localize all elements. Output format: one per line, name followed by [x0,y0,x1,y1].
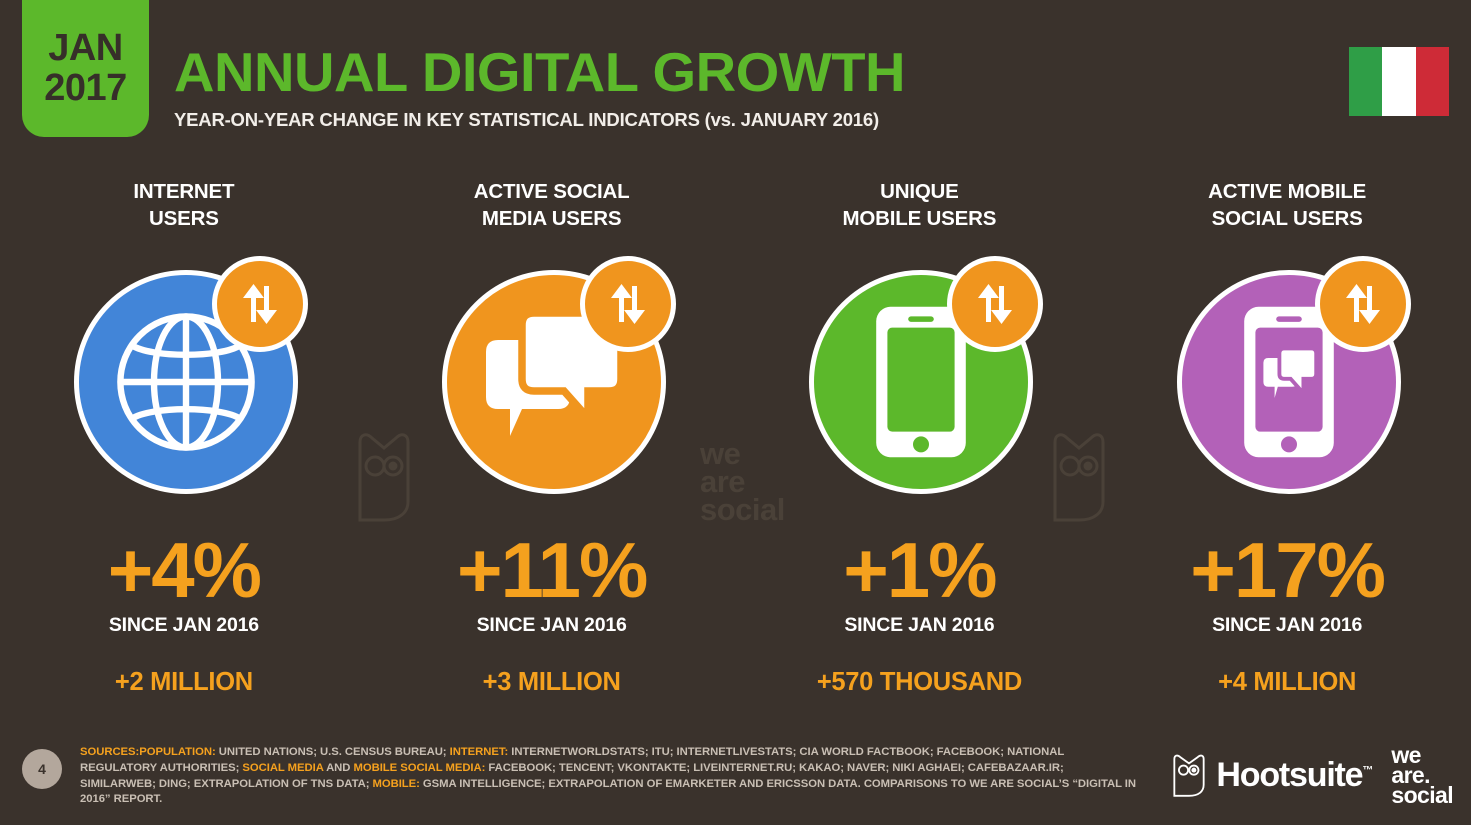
hootsuite-wordmark: Hootsuite™ [1216,756,1373,795]
date-month: JAN [48,29,123,67]
flag-stripe-green [1349,47,1382,116]
sources-body-and: AND [323,762,353,774]
growth-arrows-badge [1315,256,1411,352]
flag-stripe-white [1382,47,1415,116]
page-number-badge: 4 [22,749,62,789]
sources-key-internet: INTERNET: [450,746,509,758]
stats-columns: INTERNET USERS [0,178,1471,718]
percent-value: +4% [108,530,260,610]
column-title: ACTIVE SOCIAL MEDIA USERS [474,178,630,232]
absolute-value: +570 THOUSAND [817,668,1022,697]
percent-value: +1% [843,530,995,610]
date-badge: JAN 2017 [22,0,149,137]
sources-label: SOURCES: [80,746,139,758]
stat-column-unique-mobile-users: UNIQUE MOBILE USERS +1 [736,178,1104,718]
absolute-value: +3 MILLION [483,668,621,697]
percent-value: +17% [1190,530,1384,610]
flag-stripe-red [1416,47,1449,116]
hootsuite-text: Hootsuite [1216,756,1362,794]
column-title: UNIQUE MOBILE USERS [843,178,997,232]
since-label: SINCE JAN 2016 [109,614,259,637]
footer: 4 SOURCES:POPULATION: UNITED NATIONS; U.… [0,737,1471,825]
hootsuite-owl-icon [1173,753,1205,797]
page-subtitle: YEAR-ON-YEAR CHANGE IN KEY STATISTICAL I… [174,109,891,131]
date-year: 2017 [44,67,127,109]
absolute-value: +2 MILLION [115,668,253,697]
growth-arrows-badge [947,256,1043,352]
was-line-3: social [1391,785,1453,805]
since-label: SINCE JAN 2016 [477,614,627,637]
sources-body-1: UNITED NATIONS; U.S. CENSUS BUREAU; [216,746,450,758]
hootsuite-trademark: ™ [1362,764,1373,776]
icon-group-mobile-social [1167,262,1407,502]
stat-column-internet-users: INTERNET USERS [0,178,368,718]
stat-column-active-social-media-users: ACTIVE SOCIAL MEDIA USERS +11% SINCE JAN… [368,178,736,718]
footer-logos: Hootsuite™ we are. social [1173,745,1453,805]
we-are-social-logo: we are. social [1391,745,1453,805]
sources-key-population: POPULATION: [139,746,215,758]
growth-arrows-badge [580,256,676,352]
column-title: INTERNET USERS [133,178,234,232]
infographic-slide: JAN 2017 ANNUAL DIGITAL GROWTH YEAR-ON-Y… [0,0,1471,825]
since-label: SINCE JAN 2016 [1212,614,1362,637]
icon-group-speech-bubbles [432,262,672,502]
sources-text: SOURCES:POPULATION: UNITED NATIONS; U.S.… [80,745,1140,808]
header-text-group: ANNUAL DIGITAL GROWTH YEAR-ON-YEAR CHANG… [174,44,891,131]
icon-group-globe [64,262,304,502]
percent-value: +11% [457,530,646,610]
sources-key-mobile: MOBILE: [373,778,420,790]
column-title: ACTIVE MOBILE SOCIAL USERS [1208,178,1366,232]
hootsuite-logo: Hootsuite™ [1173,753,1373,797]
since-label: SINCE JAN 2016 [844,614,994,637]
icon-group-mobile-phone [799,262,1039,502]
sources-key-social-media: SOCIAL MEDIA [242,762,323,774]
stat-column-active-mobile-social-users: ACTIVE MOBILE SOCIAL USERS [1103,178,1471,718]
sources-key-mobile-social-media: MOBILE SOCIAL MEDIA: [354,762,486,774]
italy-flag-icon [1349,47,1449,116]
page-title: ANNUAL DIGITAL GROWTH [174,44,905,100]
absolute-value: +4 MILLION [1218,668,1356,697]
growth-arrows-badge [212,256,308,352]
